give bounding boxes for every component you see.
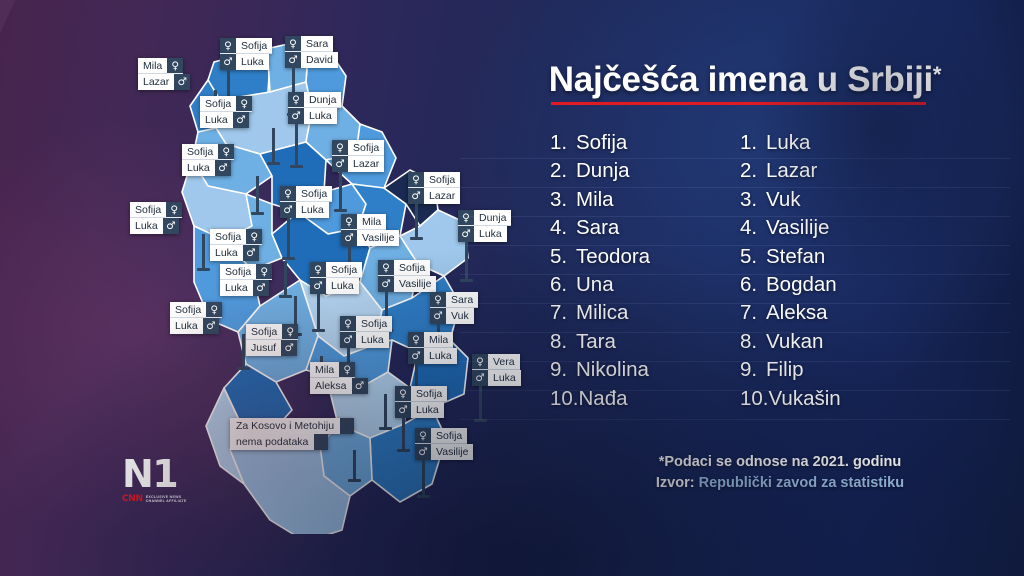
female-icon: ♀ xyxy=(220,38,236,54)
label-pin-base xyxy=(251,212,264,215)
rank: 10. xyxy=(740,385,769,413)
label-male-name: Aleksa xyxy=(310,378,352,394)
label-male-name: Luka xyxy=(200,112,233,128)
male-icon: ♂ xyxy=(233,112,249,128)
female-names-list: 1.Sofija 2.Dunja 3.Mila 4.Sara 5.Teodora… xyxy=(550,129,740,413)
female-icon: ♀ xyxy=(430,292,446,308)
list-item: 3.Mila xyxy=(550,186,740,214)
label-male-name: Luka xyxy=(304,108,337,124)
female-icon: ♀ xyxy=(206,302,222,318)
map-label-beograd[interactable]: ♀Sofija ♂Luka xyxy=(280,186,332,218)
map-label-kolubara[interactable]: Sofija♀ Luka♂ xyxy=(210,229,262,261)
female-icon: ♀ xyxy=(415,428,431,444)
label-male-name: Lazar xyxy=(348,156,384,172)
logo-subtitle: CNN EXCLUSIVE NEWS CHANNEL AFFILIATE xyxy=(122,494,208,504)
map-label-macva[interactable]: Sofija♀ Luka♂ xyxy=(130,202,182,234)
label-pin xyxy=(422,460,425,496)
female-icon: ♀ xyxy=(310,262,326,278)
label-female-name: Dunja xyxy=(304,92,341,108)
male-icon: ♂ xyxy=(340,332,356,348)
label-pin-base xyxy=(267,162,280,165)
label-male-name: Luka xyxy=(182,160,215,176)
rank: 5. xyxy=(550,243,576,271)
female-icon: ♀ xyxy=(340,316,356,332)
label-pin xyxy=(242,334,245,368)
map-label-srednji-banat[interactable]: ♀Dunja ♂Luka xyxy=(288,92,341,124)
label-pin xyxy=(402,418,405,450)
map-label-rasina[interactable]: ♀Sofija ♂Luka xyxy=(340,316,392,348)
label-female-name: Sofija xyxy=(200,96,236,112)
female-icon: ♀ xyxy=(408,172,424,188)
label-male-name: Lazar xyxy=(138,74,174,90)
names-panel: Najčešća imena u Srbiji* 1.Sofija 2.Dunj… xyxy=(470,60,1010,520)
footnote-year-line: *Podaci se odnose na 2021. godinu xyxy=(550,452,1010,473)
male-names-list: 1.Luka 2.Lazar 3.Vuk 4.Vasilije 5.Stefan… xyxy=(740,129,930,413)
name: Filip xyxy=(766,358,804,381)
rank: 9. xyxy=(550,356,576,384)
name: Dunja xyxy=(576,159,630,182)
list-item: 2.Dunja xyxy=(550,157,740,185)
map-label-toplica[interactable]: ♀Mila ♂Luka xyxy=(408,332,457,364)
map-label-jablanica-jug[interactable]: ♀Sofija ♂Luka xyxy=(395,386,447,418)
map-label-zlatibor[interactable]: Sofija♀ Luka♂ xyxy=(220,264,272,296)
label-female-name: Sofija xyxy=(210,229,246,245)
label-pin xyxy=(465,242,468,280)
label-female-name: Sofija xyxy=(411,386,447,402)
list-item: 7.Aleksa xyxy=(740,299,930,327)
male-icon: ♂ xyxy=(408,188,424,204)
name: Sofija xyxy=(576,131,627,154)
label-pin-base xyxy=(348,479,361,482)
rank: 3. xyxy=(740,186,766,214)
male-icon: ♂ xyxy=(203,318,219,334)
list-item: 4.Sara xyxy=(550,214,740,242)
label-female-name: Mila xyxy=(357,214,386,230)
label-male-name: Lazar xyxy=(424,188,460,204)
label-pin-base xyxy=(379,427,392,430)
male-icon: ♂ xyxy=(378,276,394,292)
female-icon: ♀ xyxy=(395,386,411,402)
n1-logo[interactable]: N1 CNN EXCLUSIVE NEWS CHANNEL AFFILIATE xyxy=(122,455,208,511)
female-icon: ♀ xyxy=(236,96,252,112)
rank: 9. xyxy=(740,356,766,384)
male-icon: ♂ xyxy=(415,444,431,460)
map-label-juzni-banat[interactable]: ♀Sofija ♂Lazar xyxy=(332,140,384,172)
map-label-pcinja[interactable]: ♀Sofija ♂Vasilije xyxy=(415,428,473,460)
label-pin xyxy=(415,204,418,238)
list-item: 6.Una xyxy=(550,271,740,299)
label-female-name: Sofija xyxy=(236,38,272,54)
label-pin xyxy=(339,172,342,210)
names-lists: 1.Sofija 2.Dunja 3.Mila 4.Sara 5.Teodora… xyxy=(470,129,1010,413)
list-item: 8.Tara xyxy=(550,328,740,356)
male-icon: ♂ xyxy=(174,74,190,90)
label-pin xyxy=(272,128,275,164)
male-icon: ♂ xyxy=(341,230,357,246)
female-icon: ♀ xyxy=(256,264,272,280)
label-male-name: Luka xyxy=(326,278,359,294)
label-female-name: Sofija xyxy=(182,144,218,160)
footnote-source-value: Republički zavod za statistiku xyxy=(699,475,904,491)
label-male-name: Luka xyxy=(296,202,329,218)
label-male-name: Luka xyxy=(170,318,203,334)
name: Teodora xyxy=(576,245,650,268)
map-label-pomoravlje[interactable]: ♀Sofija ♂Vasilije xyxy=(378,260,436,292)
male-icon: ♂ xyxy=(408,348,424,364)
map-label-severna-backa[interactable]: ♀Sofija ♂Luka xyxy=(220,38,272,70)
name: Una xyxy=(576,273,614,296)
male-icon: ♂ xyxy=(280,202,296,218)
label-female-name: Sofija xyxy=(424,172,460,188)
female-icon: ♀ xyxy=(167,58,183,74)
label-pin-base xyxy=(282,257,295,260)
note-accent-bar xyxy=(340,418,354,434)
note-accent-bar xyxy=(314,434,328,450)
affiliate-text: EXCLUSIVE NEWS CHANNEL AFFILIATE xyxy=(146,495,187,504)
list-item: 10.Vukašin xyxy=(740,385,930,413)
map-label-branicevo[interactable]: ♀Mila ♂Vasilije xyxy=(341,214,399,246)
name: Vukašin xyxy=(769,387,841,410)
list-item: 1.Luka xyxy=(740,129,930,157)
label-pin-base xyxy=(410,237,423,240)
map-label-podunavlje[interactable]: ♀Sofija ♂Luka xyxy=(310,262,362,294)
rank: 1. xyxy=(550,129,576,157)
kosovo-note-line1: Za Kosovo i Metohiju xyxy=(230,418,340,434)
label-pin-base xyxy=(397,449,410,452)
female-icon: ♀ xyxy=(332,140,348,156)
female-icon: ♀ xyxy=(246,229,262,245)
label-female-name: Sofija xyxy=(431,428,467,444)
footnote-source-label: Izvor: xyxy=(656,475,699,491)
label-pin-base xyxy=(197,268,210,271)
rank: 7. xyxy=(550,299,576,327)
label-male-name: Luka xyxy=(411,402,444,418)
label-male-name: Vasilije xyxy=(394,276,436,292)
list-item: 2.Lazar xyxy=(740,157,930,185)
female-icon: ♀ xyxy=(341,214,357,230)
list-item: 3.Vuk xyxy=(740,186,930,214)
label-female-name: Sofija xyxy=(326,262,362,278)
label-female-name: Sara xyxy=(301,36,333,52)
male-icon: ♂ xyxy=(310,278,326,294)
label-pin xyxy=(317,294,320,330)
label-female-name: Sofija xyxy=(348,140,384,156)
female-icon: ♀ xyxy=(339,362,355,378)
female-icon: ♀ xyxy=(218,144,234,160)
label-female-name: Sofija xyxy=(130,202,166,218)
label-pin xyxy=(256,176,259,214)
label-pin xyxy=(353,450,356,480)
rank: 2. xyxy=(740,157,766,185)
male-icon: ♂ xyxy=(332,156,348,172)
label-pin-base xyxy=(279,295,292,298)
label-male-name: David xyxy=(301,52,338,68)
label-male-name: Luka xyxy=(424,348,457,364)
label-pin xyxy=(287,218,290,258)
label-male-name: Luka xyxy=(210,245,243,261)
male-icon: ♂ xyxy=(215,160,231,176)
title-wrapper: Najčešća imena u Srbiji* xyxy=(470,60,1010,105)
label-female-name: Sofija xyxy=(394,260,430,276)
name: Sara xyxy=(576,216,619,239)
name: Mila xyxy=(576,188,614,211)
name: Nikolina xyxy=(576,358,649,381)
male-icon: ♂ xyxy=(395,402,411,418)
list-item: 9.Filip xyxy=(740,356,930,384)
label-female-name: Sofija xyxy=(220,264,256,280)
label-pin-base xyxy=(237,367,250,370)
name: Vuk xyxy=(766,188,801,211)
male-icon: ♂ xyxy=(285,52,301,68)
label-male-name: Vasilije xyxy=(357,230,399,246)
label-female-name: Mila xyxy=(424,332,453,348)
female-icon: ♀ xyxy=(288,92,304,108)
infographic-canvas: Mila♀ Lazar♂ ♀Sofija ♂Luka ♀Sara ♂David … xyxy=(0,0,1024,576)
list-item: 9.Nikolina xyxy=(550,356,740,384)
male-icon: ♂ xyxy=(281,340,297,356)
male-icon: ♂ xyxy=(163,218,179,234)
label-pin xyxy=(284,261,287,297)
rank: 2. xyxy=(550,157,576,185)
footnote-source-line: Izvor: Republički zavod za statistiku xyxy=(550,473,1010,494)
male-icon: ♂ xyxy=(220,54,236,70)
title-asterisk: * xyxy=(933,62,941,87)
female-icon: ♀ xyxy=(282,324,298,340)
male-icon: ♂ xyxy=(253,280,269,296)
male-icon: ♂ xyxy=(352,378,368,394)
name: Tara xyxy=(576,330,616,353)
title-underline xyxy=(551,102,926,105)
rank: 4. xyxy=(550,214,576,242)
label-female-name: Sofija xyxy=(356,316,392,332)
label-male-name: Luka xyxy=(356,332,389,348)
male-icon: ♂ xyxy=(288,108,304,124)
label-pin xyxy=(202,234,205,270)
name: Lazar xyxy=(766,159,817,182)
label-female-name: Sofija xyxy=(170,302,206,318)
footnote: *Podaci se odnose na 2021. godinu Izvor:… xyxy=(470,452,1010,494)
map-label-kosovo-note[interactable]: Za Kosovo i Metohiju nema podataka xyxy=(230,418,354,450)
female-icon: ♀ xyxy=(285,36,301,52)
list-item: 10.Nađa xyxy=(550,385,740,413)
male-icon: ♂ xyxy=(430,308,446,324)
female-icon: ♀ xyxy=(280,186,296,202)
label-female-name: Mila xyxy=(310,362,339,378)
label-pin-base xyxy=(312,329,325,332)
page-title: Najčešća imena u Srbiji* xyxy=(549,60,941,105)
label-female-name: Sofija xyxy=(246,324,282,340)
female-icon: ♀ xyxy=(378,260,394,276)
female-icon: ♀ xyxy=(408,332,424,348)
rank: 8. xyxy=(550,328,576,356)
affiliate-line-1: EXCLUSIVE NEWS xyxy=(146,495,182,499)
page-title-text: Najčešća imena u Srbiji xyxy=(549,60,933,99)
label-pin-base xyxy=(417,495,430,498)
rank: 4. xyxy=(740,214,766,242)
name: Milica xyxy=(576,301,628,324)
map-label-bor[interactable]: ♀Sofija ♂Lazar xyxy=(408,172,460,204)
map-label-sremski[interactable]: Sofija♀ Luka♂ xyxy=(182,144,234,176)
male-icon: ♂ xyxy=(243,245,259,261)
list-item: 6.Bogdan xyxy=(740,271,930,299)
label-pin xyxy=(295,124,298,166)
label-female-name: Mila xyxy=(138,58,167,74)
map-label-zapadna-backa[interactable]: Mila♀ Lazar♂ xyxy=(138,58,190,90)
label-pin-base xyxy=(290,165,303,168)
label-pin xyxy=(384,394,387,428)
label-male-name: Luka xyxy=(130,218,163,234)
label-female-name: Sofija xyxy=(296,186,332,202)
rank: 6. xyxy=(550,271,576,299)
map-label-severni-banat[interactable]: ♀Sara ♂David xyxy=(285,36,338,68)
map-label-zlatibor-jug[interactable]: Sofija♀ Jusuf♂ xyxy=(246,324,298,356)
name: Nađa xyxy=(579,387,628,410)
label-male-name: Luka xyxy=(236,54,269,70)
list-item: 5.Stefan xyxy=(740,243,930,271)
female-icon: ♀ xyxy=(166,202,182,218)
rank: 8. xyxy=(740,328,766,356)
label-male-name: Jusuf xyxy=(246,340,281,356)
map-label-juzna-backa[interactable]: Sofija♀ Luka♂ xyxy=(200,96,252,128)
map-label-raska[interactable]: Sofija♀ Luka♂ xyxy=(170,302,222,334)
list-item: 8.Vukan xyxy=(740,328,930,356)
cnn-mark: CNN xyxy=(122,494,143,504)
name: Vukan xyxy=(766,330,823,353)
label-male-name: Vasilije xyxy=(431,444,473,460)
name: Bogdan xyxy=(766,273,837,296)
rank: 10. xyxy=(550,385,579,413)
name: Vasilije xyxy=(766,216,829,239)
name: Stefan xyxy=(766,245,825,268)
map-label-jablanica[interactable]: Mila♀ Aleksa♂ xyxy=(310,362,368,394)
name: Aleksa xyxy=(766,301,828,324)
rank: 7. xyxy=(740,299,766,327)
list-item: 7.Milica xyxy=(550,299,740,327)
rank: 3. xyxy=(550,186,576,214)
logo-wordmark: N1 xyxy=(122,455,208,493)
affiliate-line-2: CHANNEL AFFILIATE xyxy=(146,499,187,503)
kosovo-note-line2: nema podataka xyxy=(230,434,314,450)
rank: 5. xyxy=(740,243,766,271)
list-item: 5.Teodora xyxy=(550,243,740,271)
label-pin-base xyxy=(334,209,347,212)
label-male-name: Luka xyxy=(220,280,253,296)
list-item: 1.Sofija xyxy=(550,129,740,157)
rank: 1. xyxy=(740,129,766,157)
list-item: 4.Vasilije xyxy=(740,214,930,242)
rank: 6. xyxy=(740,271,766,299)
name: Luka xyxy=(766,131,810,154)
